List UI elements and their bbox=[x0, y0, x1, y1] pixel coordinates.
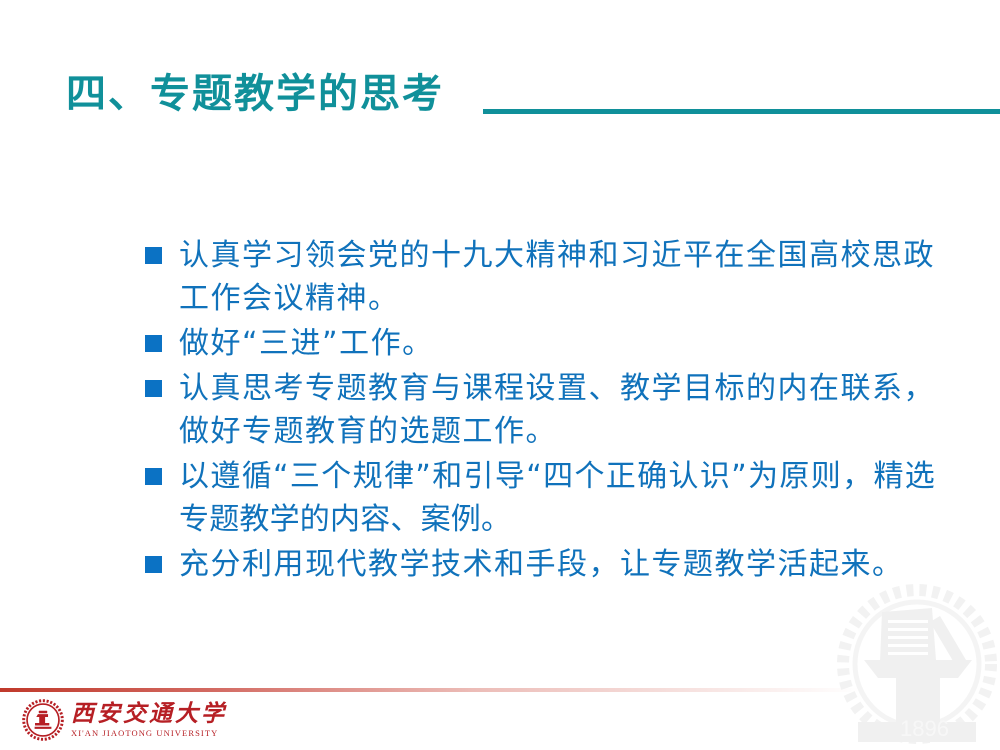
square-bullet-icon bbox=[145, 380, 162, 397]
slide-canvas: 四、专题教学的思考 认真学习领会党的十九大精神和习近平在全国高校思政工作会议精神… bbox=[0, 0, 1000, 750]
list-item-text: 做好“三进”工作。 bbox=[179, 322, 935, 365]
logo-wordmark: 西安交通大学 XI'AN JIAOTONG UNIVERSITY bbox=[71, 701, 227, 739]
watermark-book-lines bbox=[888, 620, 928, 655]
bullet-list: 认真学习领会党的十九大精神和习近平在全国高校思政工作会议精神。 做好“三进”工作… bbox=[145, 234, 935, 588]
logo-name-en: XI'AN JIAOTONG UNIVERSITY bbox=[71, 727, 227, 739]
list-item-text: 以遵循“三个规律”和引导“四个正确认识”为原则，精选专题教学的内容、案例。 bbox=[179, 455, 935, 541]
watermark-gear-icon bbox=[843, 590, 991, 738]
logo-name-cn: 西安交通大学 bbox=[71, 701, 227, 727]
university-logo: 西安交通大学 XI'AN JIAOTONG UNIVERSITY bbox=[22, 697, 227, 743]
title-underline-rule bbox=[483, 109, 1000, 114]
list-item-text: 认真学习领会党的十九大精神和习近平在全国高校思政工作会议精神。 bbox=[179, 234, 935, 320]
square-bullet-icon bbox=[145, 247, 162, 264]
list-item: 认真学习领会党的十九大精神和习近平在全国高校思政工作会议精神。 bbox=[145, 234, 935, 320]
watermark-year: 1896 bbox=[900, 716, 949, 741]
corner-watermark: 1896 bbox=[822, 564, 1000, 750]
square-bullet-icon bbox=[145, 468, 162, 485]
footer-divider bbox=[0, 688, 860, 692]
list-item: 认真思考专题教育与课程设置、教学目标的内在联系，做好专题教育的选题工作。 bbox=[145, 367, 935, 453]
list-item-text: 充分利用现代教学技术和手段，让专题教学活起来。 bbox=[179, 543, 935, 586]
university-emblem-icon bbox=[22, 699, 64, 741]
slide-title-row: 四、专题教学的思考 bbox=[0, 68, 1000, 128]
watermark-anvil-icon bbox=[858, 608, 976, 742]
square-bullet-icon bbox=[145, 335, 162, 352]
page-title: 四、专题教学的思考 bbox=[66, 68, 444, 120]
list-item: 做好“三进”工作。 bbox=[145, 322, 935, 365]
list-item: 以遵循“三个规律”和引导“四个正确认识”为原则，精选专题教学的内容、案例。 bbox=[145, 455, 935, 541]
list-item: 充分利用现代教学技术和手段，让专题教学活起来。 bbox=[145, 543, 935, 586]
square-bullet-icon bbox=[145, 556, 162, 573]
list-item-text: 认真思考专题教育与课程设置、教学目标的内在联系，做好专题教育的选题工作。 bbox=[179, 367, 935, 453]
